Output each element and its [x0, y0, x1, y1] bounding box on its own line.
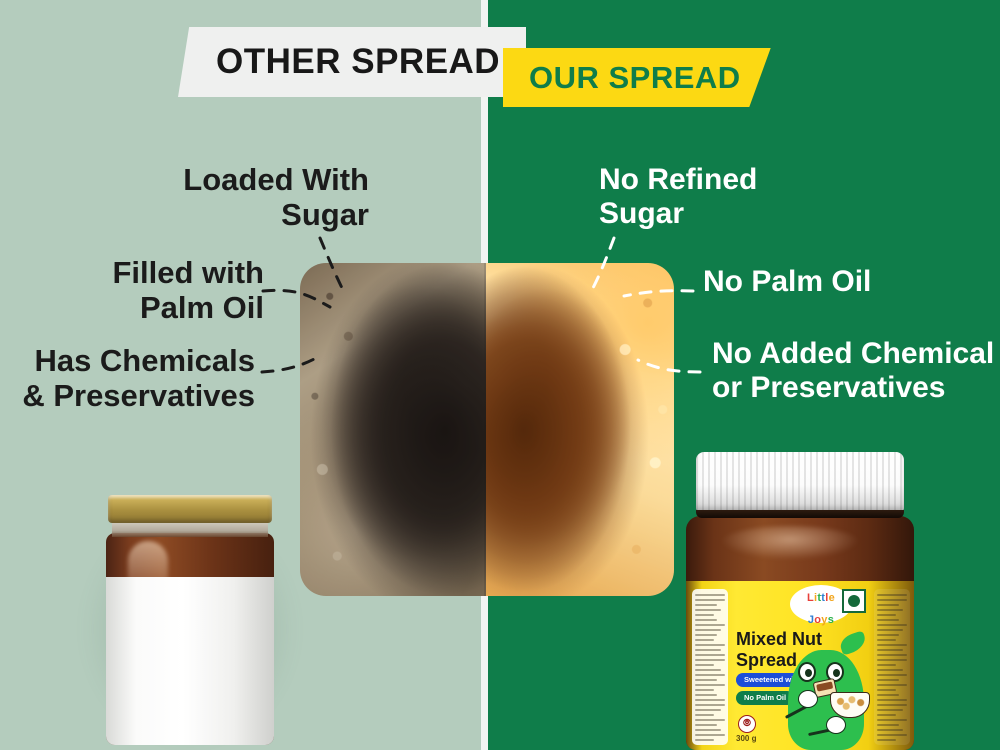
- comparison-infographic: OTHER SPREAD OUR SPREAD Loaded With Suga…: [0, 0, 1000, 750]
- logo-line-1: Little: [807, 582, 835, 604]
- nutrition-fineprint: [877, 594, 907, 741]
- mascot-bowl-icon: [830, 692, 870, 718]
- fssai-mark-icon: ⦾: [738, 715, 756, 733]
- mascot-hand-left: [798, 690, 818, 708]
- banner-our-label: OUR SPREAD: [529, 60, 741, 96]
- toast-half-ours: [486, 263, 674, 596]
- ingredients-fineprint: [695, 594, 725, 741]
- label-ingredients-panel: [692, 589, 728, 745]
- net-weight: 300 g: [736, 735, 756, 744]
- callout-has-chemicals: Has Chemicals & Preservatives: [22, 344, 255, 413]
- callout-no-added-chemical: No Added Chemical or Preservatives: [712, 337, 994, 404]
- callout-no-palm-oil: No Palm Oil: [703, 265, 871, 299]
- green-blob-mascot-icon: [780, 638, 872, 750]
- banner-our-spread: OUR SPREAD: [503, 48, 771, 107]
- veg-dot-icon: [848, 595, 860, 607]
- jar-cap-ring: [696, 510, 904, 518]
- mascot-hand-right: [826, 716, 846, 734]
- jar-front-label: Little Joys Mixed Nut Spread Sweetened w…: [686, 581, 914, 750]
- callout-filled-with-palm-oil: Filled with Palm Oil: [112, 256, 264, 325]
- callout-loaded-with-sugar: Loaded With Sugar: [183, 163, 369, 232]
- label-nutrition-panel: [874, 589, 910, 745]
- vegetarian-mark-icon: [842, 589, 866, 613]
- jar-neck: [112, 521, 268, 537]
- callout-no-refined-sugar: No Refined Sugar: [599, 163, 757, 230]
- toast-half-other: [300, 263, 486, 596]
- mascot-eye-left: [798, 662, 816, 682]
- logo-line-2: Joys: [808, 604, 834, 626]
- generic-spread-jar: [94, 495, 286, 750]
- little-joys-mixed-nut-spread-jar: Little Joys Mixed Nut Spread Sweetened w…: [672, 452, 928, 750]
- banner-other-label: OTHER SPREAD: [216, 42, 500, 82]
- jar-body-highlight: [720, 526, 860, 560]
- jar-white-cap: [696, 452, 904, 512]
- jar-blank-label: [106, 577, 274, 745]
- banner-other-spread: OTHER SPREAD: [178, 27, 526, 97]
- jar-gold-lid: [108, 495, 272, 523]
